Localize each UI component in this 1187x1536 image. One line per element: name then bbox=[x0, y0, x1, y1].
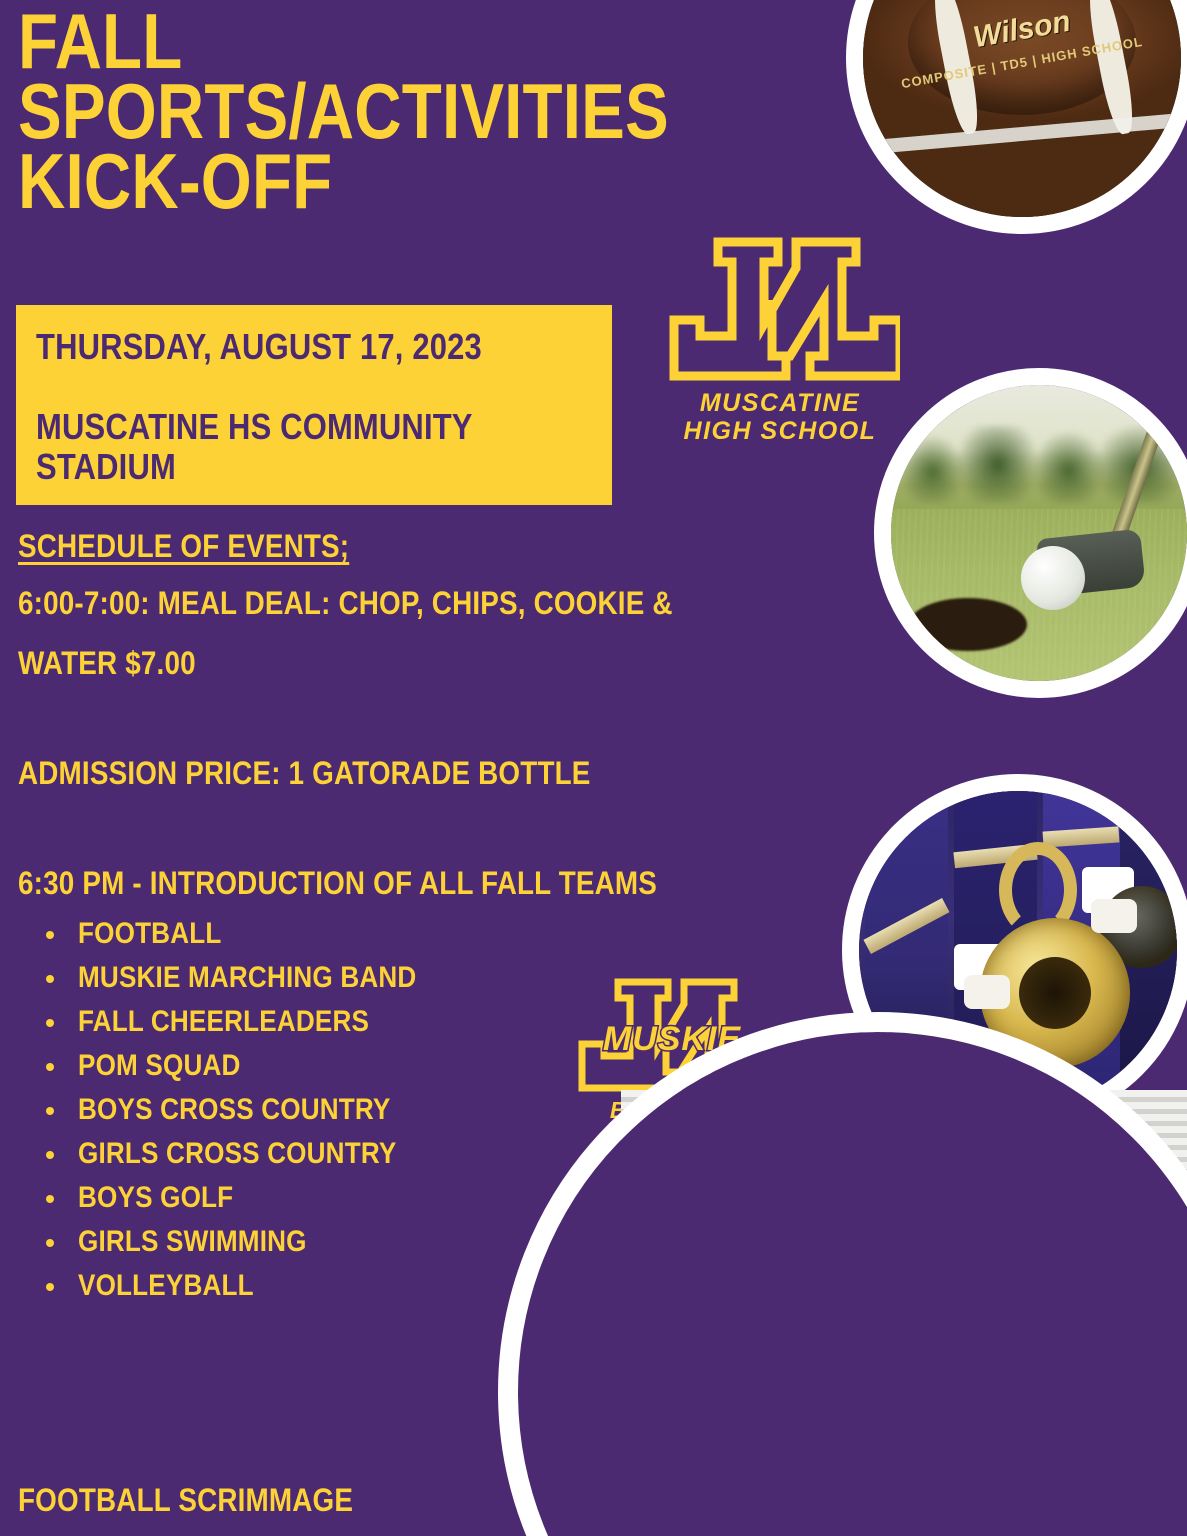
event-date: THURSDAY, AUGUST 17, 2023 bbox=[36, 327, 482, 367]
team-name: MUSKIE MARCHING BAND bbox=[78, 962, 416, 993]
meal-deal-line-2: WATER $7.00 bbox=[18, 645, 196, 681]
list-item: BOYS GOLF bbox=[44, 1182, 564, 1226]
meal-deal-line-1: 6:00-7:00: MEAL DEAL: CHOP, CHIPS, COOKI… bbox=[18, 585, 673, 621]
bullet-icon bbox=[46, 931, 54, 939]
list-item: FALL CHEERLEADERS bbox=[44, 1006, 564, 1050]
event-info-box: THURSDAY, AUGUST 17, 2023 MUSCATINE HS C… bbox=[16, 305, 612, 505]
football-photo-art: Wilson COMPOSITE | TD5 | HIGH SCHOOL bbox=[863, 0, 1181, 217]
team-name: VOLLEYBALL bbox=[78, 1270, 254, 1301]
list-item: BOYS CROSS COUNTRY bbox=[44, 1094, 564, 1138]
fall-sports-kickoff-poster: FALL SPORTS/ACTIVITIES KICK-OFF THURSDAY… bbox=[0, 0, 1187, 1536]
list-item: GIRLS SWIMMING bbox=[44, 1226, 564, 1270]
bullet-icon bbox=[46, 1283, 54, 1291]
title-line-2: SPORTS/ACTIVITIES bbox=[18, 76, 724, 146]
band-glove-2 bbox=[1091, 899, 1137, 933]
team-name: GIRLS SWIMMING bbox=[78, 1226, 307, 1257]
band-glove-1 bbox=[964, 975, 1010, 1009]
event-venue: MUSCATINE HS COMMUNITY STADIUM bbox=[36, 407, 604, 487]
mhs-logo-line-2: HIGH SCHOOL bbox=[660, 418, 900, 445]
team-name: FALL CHEERLEADERS bbox=[78, 1006, 369, 1037]
list-item: VOLLEYBALL bbox=[44, 1270, 564, 1314]
bullet-icon bbox=[46, 1063, 54, 1071]
admission-price: ADMISSION PRICE: 1 GATORADE BOTTLE bbox=[18, 755, 591, 791]
golf-photo bbox=[874, 368, 1187, 698]
bullet-icon bbox=[46, 1019, 54, 1027]
bullet-icon bbox=[46, 1195, 54, 1203]
bullet-icon bbox=[46, 1239, 54, 1247]
turf-yard-line bbox=[863, 113, 1181, 155]
team-name: BOYS GOLF bbox=[78, 1182, 233, 1213]
team-name: FOOTBALL bbox=[78, 918, 221, 949]
list-item: POM SQUAD bbox=[44, 1050, 564, 1094]
golf-photo-art bbox=[891, 385, 1187, 681]
list-item: GIRLS CROSS COUNTRY bbox=[44, 1138, 564, 1182]
team-name: GIRLS CROSS COUNTRY bbox=[78, 1138, 396, 1169]
bullet-icon bbox=[46, 1151, 54, 1159]
football-photo: Wilson COMPOSITE | TD5 | HIGH SCHOOL bbox=[846, 0, 1187, 234]
bullet-icon bbox=[46, 975, 54, 983]
golf-ball bbox=[1021, 546, 1085, 610]
football-scrimmage-line: FOOTBALL SCRIMMAGE bbox=[18, 1482, 353, 1518]
team-name: POM SQUAD bbox=[78, 1050, 241, 1081]
m-letter-icon bbox=[660, 228, 900, 393]
muscatine-high-school-logo: MUSCATINE HIGH SCHOOL bbox=[660, 228, 900, 448]
list-item: MUSKIE MARCHING BAND bbox=[44, 962, 564, 1006]
page-title: FALL SPORTS/ACTIVITIES KICK-OFF bbox=[18, 6, 858, 216]
bullet-icon bbox=[46, 1107, 54, 1115]
title-line-1: FALL bbox=[18, 6, 724, 76]
fall-teams-list: FOOTBALLMUSKIE MARCHING BANDFALL CHEERLE… bbox=[44, 918, 564, 1314]
mhs-logo-line-1: MUSCATINE bbox=[660, 390, 900, 417]
schedule-heading: SCHEDULE OF EVENTS; bbox=[18, 528, 349, 564]
team-intro-time: 6:30 PM - INTRODUCTION OF ALL FALL TEAMS bbox=[18, 865, 657, 901]
list-item: FOOTBALL bbox=[44, 918, 564, 962]
title-line-3: KICK-OFF bbox=[18, 146, 724, 216]
team-name: BOYS CROSS COUNTRY bbox=[78, 1094, 391, 1125]
